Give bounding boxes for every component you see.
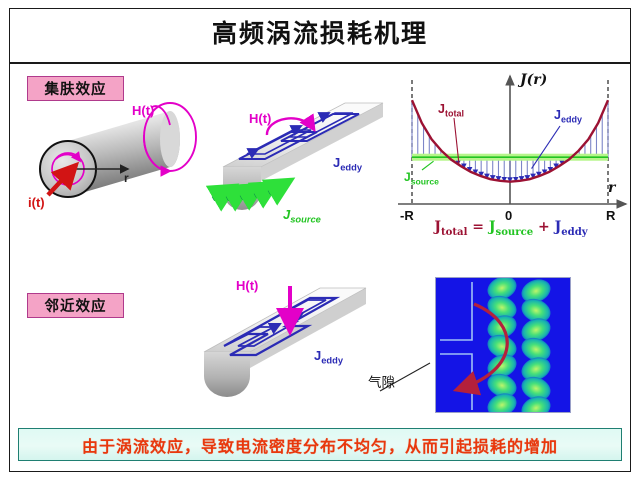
- chart-annotation-jeddy: Jeddy: [554, 108, 582, 125]
- conclusion-banner: 由于涡流效应，导致电流密度分布不均匀，从而引起损耗的增加: [18, 428, 622, 461]
- cylinder-field-label: H(t): [132, 103, 154, 118]
- chart-current-density-distribution: J(r) r -R 0 R Jtotal Jeddy Jsource: [392, 70, 630, 230]
- slab-skin-source-label-sub: source: [290, 215, 321, 225]
- equation-term-eddy: Jeddy: [555, 219, 588, 235]
- eq-eddy-sub: eddy: [561, 227, 587, 238]
- fea-gap-label: 气隙: [368, 371, 395, 391]
- jtotal-sub: total: [445, 109, 464, 119]
- figure-cylinder-skin-effect: H(t) i(t) r: [20, 95, 210, 230]
- figure-slab-proximity-effect: H(t) Jeddy: [190, 270, 380, 410]
- equation-equals: =: [472, 219, 484, 235]
- figure-slab-skin-effect: H(t) Jeddy Jsource: [205, 95, 390, 235]
- jsource-main: J: [404, 170, 411, 184]
- eq-source-sub: source: [496, 227, 534, 238]
- slab-proximity-eddy-label-sub: eddy: [321, 356, 343, 366]
- slab-skin-source-label: Jsource: [283, 207, 321, 225]
- eq-total-sub: total: [441, 227, 467, 238]
- slab-skin-field-label: H(t): [249, 111, 271, 126]
- chart-x-axis-label: r: [608, 180, 615, 196]
- equation-plus: +: [538, 219, 550, 235]
- slab-proximity-field-label: H(t): [236, 278, 258, 293]
- slab-skin-eddy-label: Jeddy: [333, 155, 362, 173]
- jtotal-main: J: [438, 102, 445, 116]
- jeddy-main: J: [554, 108, 561, 122]
- section-label-proximity-effect: 邻近效应: [27, 293, 124, 318]
- slab-skin-eddy-label-sub: eddy: [340, 163, 362, 173]
- equation-term-total: Jtotal: [434, 219, 467, 235]
- equation-term-source: Jsource: [489, 219, 533, 235]
- equation-jtotal: Jtotal = Jsource + Jeddy: [392, 219, 630, 238]
- eq-source-main: J: [489, 219, 496, 235]
- chart-annotation-jsource: Jsource: [404, 170, 439, 186]
- conclusion-banner-text: 由于涡流效应，导致电流密度分布不均匀，从而引起损耗的增加: [82, 433, 558, 457]
- slide-root: 高频涡流损耗机理 集肤效应 邻近效应: [0, 0, 640, 481]
- jeddy-sub: eddy: [561, 115, 582, 125]
- chart-y-axis-label: J(r): [520, 72, 547, 88]
- chart-annotation-jtotal: Jtotal: [438, 102, 464, 119]
- cylinder-current-label: i(t): [28, 195, 45, 210]
- fea-gap-label-text: 气隙: [368, 375, 395, 391]
- jsource-sub: source: [411, 176, 439, 186]
- cylinder-radius-axis-label: r: [124, 171, 129, 185]
- slab-proximity-eddy-label: Jeddy: [314, 348, 343, 366]
- title-divider: [9, 62, 631, 64]
- page-title: 高频涡流损耗机理: [9, 14, 631, 50]
